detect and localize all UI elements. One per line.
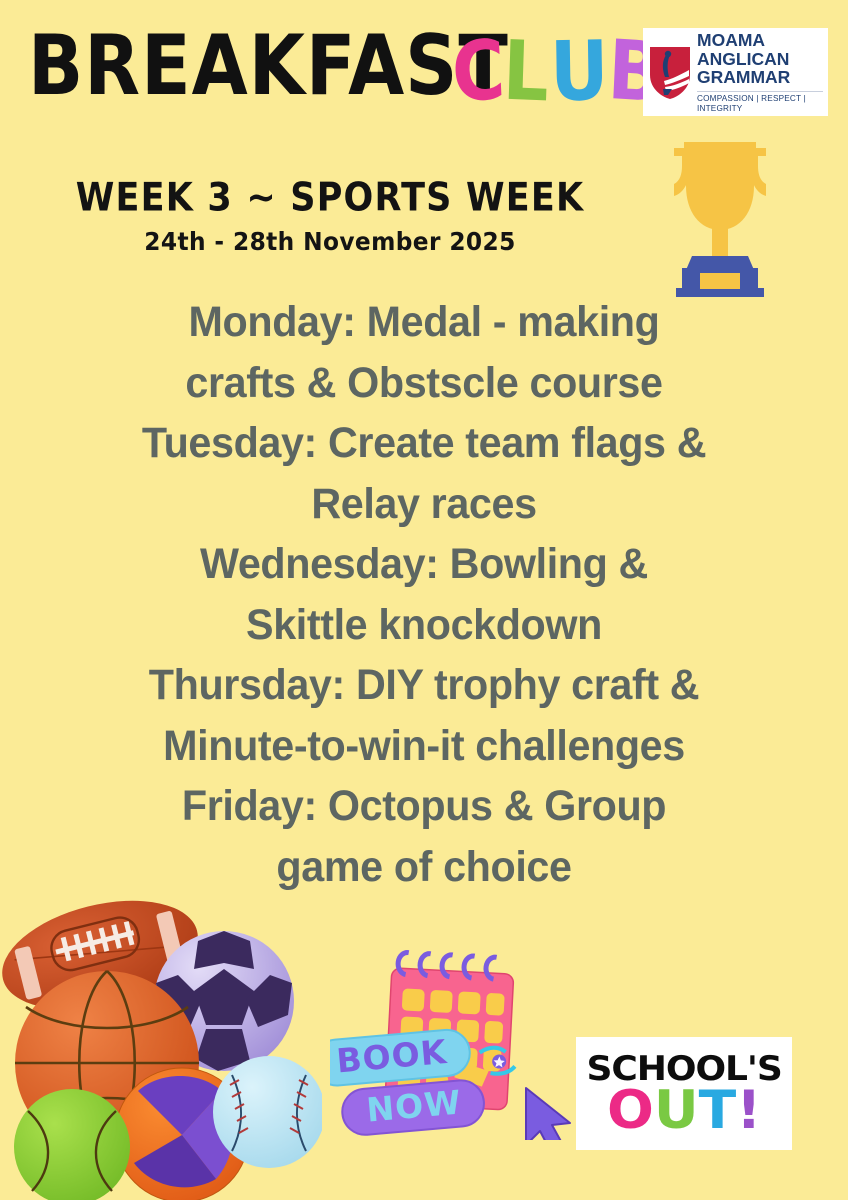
tennis-ball	[14, 1089, 130, 1200]
schools-out-letter-u: U	[654, 1080, 699, 1141]
school-logo-line3: GRAMMAR	[697, 68, 823, 87]
week-title: WEEK 3 ~ SPORTS WEEK	[0, 176, 660, 221]
school-logo-line1: MOAMA	[697, 31, 823, 50]
book-now-sticker[interactable]: BOOK NOW	[330, 940, 575, 1140]
now-pill-label: NOW	[365, 1082, 463, 1129]
schools-out-letter-exclaim: !	[736, 1080, 761, 1141]
schools-out-letter-t: T	[698, 1080, 736, 1141]
schedule-line: crafts & Obstscle course	[100, 353, 749, 414]
schedule-line: Friday: Octopus & Group	[100, 776, 749, 837]
poster-canvas: BREAKFAST CLUB MOAMA ANGLICAN GRAMMAR CO…	[0, 0, 848, 1200]
school-logo: MOAMA ANGLICAN GRAMMAR COMPASSION | RESP…	[643, 28, 828, 116]
brand-title-club: CLUB	[452, 22, 663, 120]
cursor-arrow-icon	[526, 1088, 570, 1140]
club-letter-l: L	[501, 21, 550, 121]
brand-title-breakfast: BREAKFAST	[28, 18, 509, 114]
poster-header: BREAKFAST CLUB MOAMA ANGLICAN GRAMMAR CO…	[0, 0, 848, 130]
club-letter-u: U	[549, 21, 609, 120]
schedule-line: Relay races	[100, 474, 749, 535]
school-crest-icon	[648, 45, 692, 101]
schools-out-line2: OUT!	[607, 1085, 761, 1137]
sports-balls-illustration	[0, 895, 322, 1200]
school-logo-tagline: COMPASSION | RESPECT | INTEGRITY	[697, 91, 823, 114]
trophy-icon	[648, 136, 792, 298]
schedule-line: game of choice	[100, 837, 749, 898]
schedule-line: Monday: Medal - making	[100, 292, 749, 353]
school-logo-line2: ANGLICAN	[697, 50, 823, 69]
schedule-line: Thursday: DIY trophy craft &	[100, 655, 749, 716]
now-pill: NOW	[340, 1079, 485, 1137]
schedule-line: Tuesday: Create team flags &	[100, 413, 749, 474]
schools-out-badge: SCHOOL'S OUT!	[576, 1037, 792, 1150]
schedule-list: Monday: Medal - making crafts & Obstscle…	[86, 292, 762, 897]
baseball-ball	[213, 1056, 322, 1168]
schedule-line: Skittle knockdown	[100, 595, 749, 656]
schedule-line: Wednesday: Bowling &	[100, 534, 749, 595]
schools-out-letter-o: O	[607, 1080, 654, 1141]
schedule-line: Minute-to-win-it challenges	[100, 716, 749, 777]
school-logo-text: MOAMA ANGLICAN GRAMMAR COMPASSION | RESP…	[697, 31, 823, 114]
club-letter-c: C	[450, 20, 507, 121]
week-dates: 24th - 28th November 2025	[10, 226, 650, 258]
